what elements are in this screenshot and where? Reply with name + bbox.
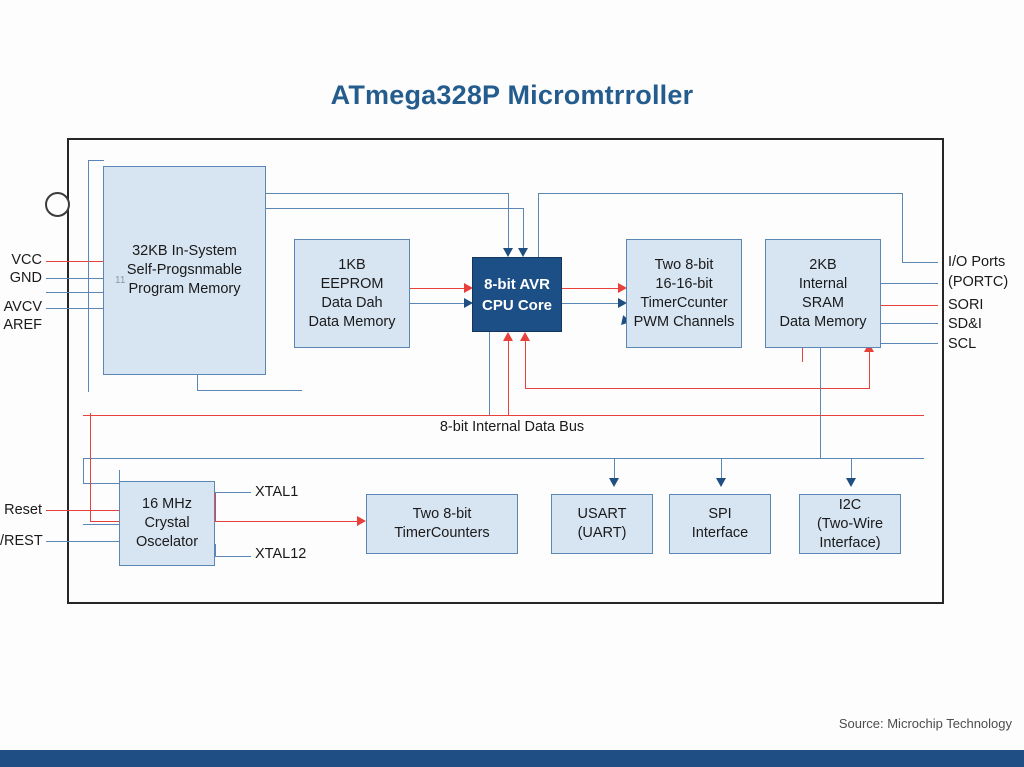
- block-timer-counters-8bit: Two 8-bit TimerCounters: [366, 494, 518, 554]
- wire-cpu-sram-red-rise: [869, 351, 870, 389]
- internal-data-bus-label: 8-bit Internal Data Bus: [0, 419, 1024, 435]
- block-sram-line-1: 2KB: [809, 256, 836, 275]
- wire-cpu-timer-blue: [562, 303, 622, 304]
- pin-label-avcv: AVCV: [0, 299, 42, 315]
- block-eeprom-line-1: 1KB: [338, 256, 365, 275]
- block-cpu-line-2: CPU Core: [482, 295, 552, 316]
- arrow-flash-cpu-a: [503, 248, 513, 257]
- source-attribution: Source: Microchip Technology: [839, 716, 1012, 731]
- block-usart-line-2: (UART): [578, 524, 627, 543]
- pin-label-xtal1: XTAL1: [255, 484, 298, 500]
- pin-label-reset: Reset: [0, 502, 42, 518]
- block-spi-line-2: Interface: [692, 524, 748, 543]
- block-sram-line-4: Data Memory: [779, 313, 866, 332]
- block-i2c: I2C (Two-Wire Interface): [799, 494, 901, 554]
- block-eeprom-line-4: Data Memory: [308, 313, 395, 332]
- block-cpu-core: 8-bit AVR CPU Core: [472, 257, 562, 332]
- wire-cpu-io-run: [538, 193, 903, 194]
- wire-bus-left-drop: [83, 459, 84, 483]
- arrow-osc-timer8: [357, 516, 366, 526]
- block-i2c-line-1: I2C: [839, 496, 862, 515]
- wire-bus-osc: [83, 483, 119, 484]
- pin1-notch-icon: [45, 192, 70, 217]
- block-crystal-oscillator: 16 MHz Crystal Oscelator: [119, 481, 215, 566]
- wire-reset: [46, 510, 119, 511]
- wire-osc-xtal1-red: [215, 492, 216, 522]
- wire-sdi: [881, 323, 938, 324]
- pin-label-nreset: /REST: [0, 533, 42, 549]
- wire-avcv-run: [197, 390, 302, 391]
- wire-nreset: [46, 541, 119, 542]
- arrow-bus-i2c: [846, 478, 856, 487]
- wire-bus-cpu-red-a: [508, 340, 509, 415]
- pin-label-sdi: SD&I: [948, 316, 982, 332]
- wire-nreset-2: [83, 524, 119, 525]
- block-spi-line-1: SPI: [708, 505, 731, 524]
- flash-stray-mark: 11: [115, 275, 125, 286]
- arrow-bus-cpu-red-a: [503, 332, 513, 341]
- arrow-bus-spi: [716, 478, 726, 487]
- block-sram: 2KB Internal SRAM Data Memory: [765, 239, 881, 348]
- block-eeprom: 1KB EEPROM Data Dah Data Memory: [294, 239, 410, 348]
- pin-label-gnd: GND: [0, 270, 42, 286]
- block-spi: SPI Interface: [669, 494, 771, 554]
- block-timer16-line-2: 16-16-bit: [655, 275, 712, 294]
- block-sram-line-2: Internal: [799, 275, 847, 294]
- block-timer8-line-2: TimerCounters: [394, 524, 489, 543]
- pin-label-portc: (PORTC): [948, 274, 1008, 290]
- block-i2c-line-3: Interface): [819, 534, 880, 553]
- block-timer16-line-4: PWM Channels: [634, 313, 735, 332]
- block-flash-line-2: Self-Progsnmable: [127, 261, 242, 280]
- block-flash-memory: 32KB In-System Self-Progsnmable Program …: [103, 166, 266, 375]
- wire-flash-cpu-b-drop: [523, 208, 524, 250]
- block-timer16-line-1: Two 8-bit: [655, 256, 714, 275]
- block-sram-line-3: SRAM: [802, 294, 844, 313]
- wire-cpu-io-rise: [538, 193, 539, 257]
- block-eeprom-line-2: EEPROM: [321, 275, 384, 294]
- wire-xtal12-stub: [215, 544, 216, 557]
- wire-cpu-timer-red: [562, 288, 622, 289]
- wire-flash-left-top: [88, 160, 104, 161]
- wire-flash-left-rail: [88, 160, 89, 392]
- wire-cpu-sram-red-run: [525, 388, 870, 389]
- block-osc-line-1: 16 MHz: [142, 495, 192, 514]
- wire-flash-cpu-a: [266, 193, 509, 194]
- wire-portc: [881, 283, 938, 284]
- page-title: ATmega328P Micromtrroller: [0, 80, 1024, 111]
- block-cpu-line-1: 8-bit AVR: [484, 274, 550, 295]
- block-flash-line-3: Program Memory: [129, 280, 241, 299]
- wire-flash-cpu-b: [266, 208, 524, 209]
- wire-xtal1: [215, 492, 251, 493]
- wire-bus-cpu-red-b: [525, 340, 526, 388]
- wire-eeprom-cpu-red: [410, 288, 468, 289]
- block-flash-line-1: 32KB In-System: [132, 242, 237, 261]
- block-timer16-line-3: TimerCcunter: [640, 294, 727, 313]
- pin-label-aref: AREF: [0, 317, 42, 333]
- footer-bar: [0, 750, 1024, 767]
- pin-label-sori: SORI: [948, 297, 983, 313]
- block-eeprom-line-3: Data Dah: [321, 294, 382, 313]
- wire-eeprom-cpu-blue: [410, 303, 468, 304]
- block-usart-line-1: USART: [578, 505, 627, 524]
- pin-label-vcc: VCC: [0, 252, 42, 268]
- arrow-flash-cpu-b: [518, 248, 528, 257]
- wire-flash-cpu-a-drop: [508, 193, 509, 250]
- block-timer8-line-1: Two 8-bit: [413, 505, 472, 524]
- block-usart: USART (UART): [551, 494, 653, 554]
- block-timer-counter-16bit: Two 8-bit 16-16-bit TimerCcunter PWM Cha…: [626, 239, 742, 348]
- wire-cpu-io-drop: [902, 193, 903, 262]
- pin-label-scl: SCL: [948, 336, 976, 352]
- pin-label-xtal12: XTAL12: [255, 546, 306, 562]
- arrow-bus-cpu-red-b: [520, 332, 530, 341]
- wire-xtal12: [215, 556, 251, 557]
- slide-canvas: ATmega328P Micromtrroller VCC GND AVCV A…: [0, 0, 1024, 767]
- wire-cpu-io-exit: [902, 262, 938, 263]
- arrow-bus-usart: [609, 478, 619, 487]
- pin-label-io-ports: I/O Ports: [948, 254, 1005, 270]
- wire-cpu-bus-blue: [489, 332, 490, 415]
- block-osc-line-2: Crystal: [144, 514, 189, 533]
- block-osc-line-3: Oscelator: [136, 533, 198, 552]
- block-i2c-line-2: (Two-Wire: [817, 515, 883, 534]
